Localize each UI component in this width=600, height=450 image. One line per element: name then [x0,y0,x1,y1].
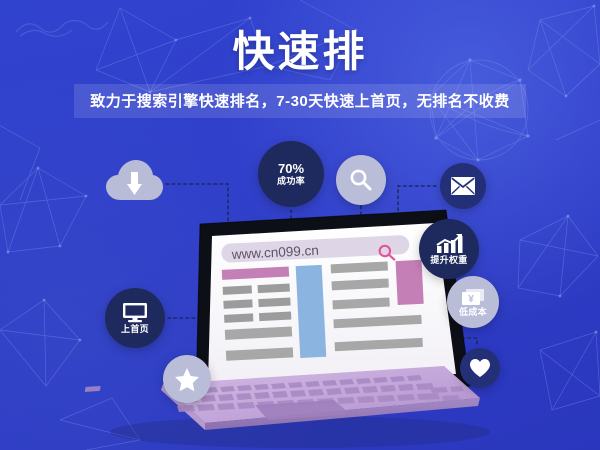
boost-weight-badge[interactable]: 提升权重 [419,219,479,279]
heart-icon [469,358,491,378]
success-rate-value: 70% [278,162,304,175]
reach-homepage-label: 上首页 [121,325,149,334]
magnifier-icon [348,167,374,193]
star-icon [174,367,200,392]
cloud-download-icon [104,158,164,204]
banner-stage: 快速排 致力于搜索引擎快速排名，7-30天快速上首页，无排名不收费 [0,0,600,450]
boost-weight-label: 提升权重 [430,256,467,265]
low-cost-label: 低成本 [459,308,487,317]
svg-text:¥: ¥ [468,294,474,305]
banknote-yen-icon: ¥ [461,288,485,306]
cloud-download-badge[interactable] [104,158,164,204]
laptop-url-text: www.cn099.cn [230,243,319,262]
banner-header: 快速排 致力于搜索引擎快速排名，7-30天快速上首页，无排名不收费 [0,0,600,118]
mail-badge[interactable] [440,163,486,209]
heart-badge[interactable] [460,348,500,388]
search-badge[interactable] [336,155,386,205]
envelope-icon [450,176,476,196]
low-cost-badge[interactable]: ¥ 低成本 [447,276,499,328]
page-title: 快速排 [0,30,600,74]
page-subtitle: 致力于搜索引擎快速排名，7-30天快速上首页，无排名不收费 [74,84,526,118]
monitor-icon [122,302,148,323]
star-badge[interactable] [163,355,211,403]
trending-up-icon [435,234,463,254]
reach-homepage-badge[interactable]: 上首页 [105,288,165,348]
success-rate-label: 成功率 [277,177,305,186]
success-rate-badge[interactable]: 70% 成功率 [258,141,324,207]
